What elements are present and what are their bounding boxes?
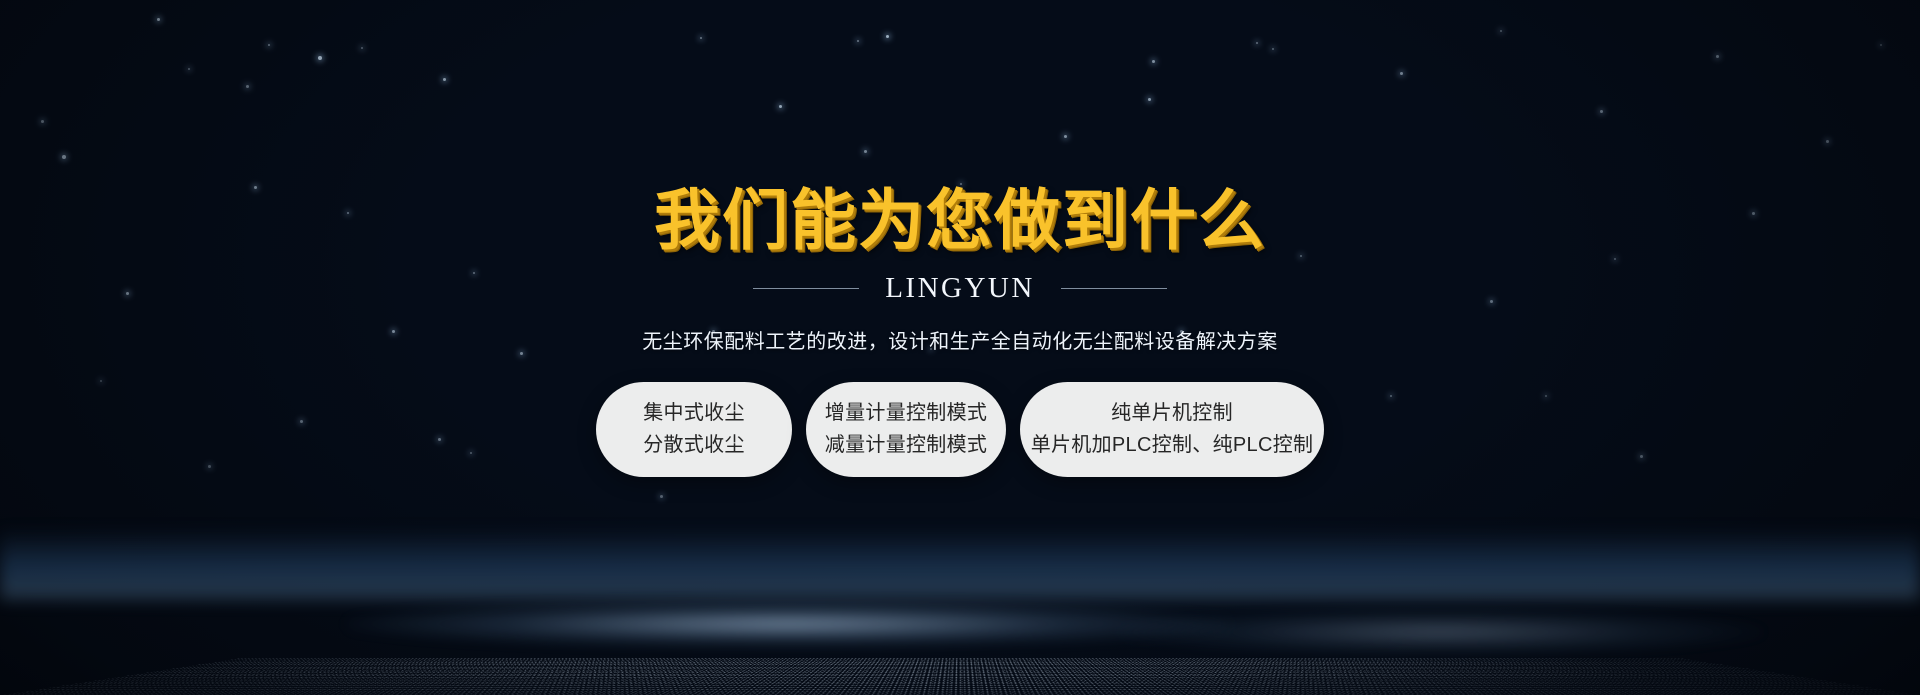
feature-card-dust-collection[interactable]: 集中式收尘 分散式收尘 [596, 382, 792, 477]
feature-card-list: 集中式收尘 分散式收尘 增量计量控制模式 减量计量控制模式 纯单片机控制 单片机… [596, 382, 1324, 477]
feature-card-metering-mode[interactable]: 增量计量控制模式 减量计量控制模式 [806, 382, 1006, 477]
feature-card-control-system[interactable]: 纯单片机控制 单片机加PLC控制、纯PLC控制 [1020, 382, 1324, 477]
card-line-primary: 纯单片机控制 [1111, 402, 1233, 425]
divider-line-right [1061, 288, 1167, 289]
card-line-primary: 集中式收尘 [643, 402, 745, 425]
hero-banner: 我们能为您做到什么 LINGYUN 无尘环保配料工艺的改进，设计和生产全自动化无… [0, 0, 1920, 695]
tagline-text: 无尘环保配料工艺的改进，设计和生产全自动化无尘配料设备解决方案 [642, 325, 1278, 354]
card-line-primary: 增量计量控制模式 [825, 402, 987, 425]
brand-name-en: LINGYUN [885, 272, 1035, 305]
divider-line-left [753, 288, 859, 289]
card-line-secondary: 单片机加PLC控制、纯PLC控制 [1031, 434, 1314, 457]
banner-content: 我们能为您做到什么 LINGYUN 无尘环保配料工艺的改进，设计和生产全自动化无… [0, 0, 1920, 695]
card-line-secondary: 分散式收尘 [643, 434, 745, 457]
page-title: 我们能为您做到什么 [654, 188, 1266, 254]
brand-subtitle-row: LINGYUN [753, 272, 1167, 305]
card-line-secondary: 减量计量控制模式 [825, 434, 987, 457]
